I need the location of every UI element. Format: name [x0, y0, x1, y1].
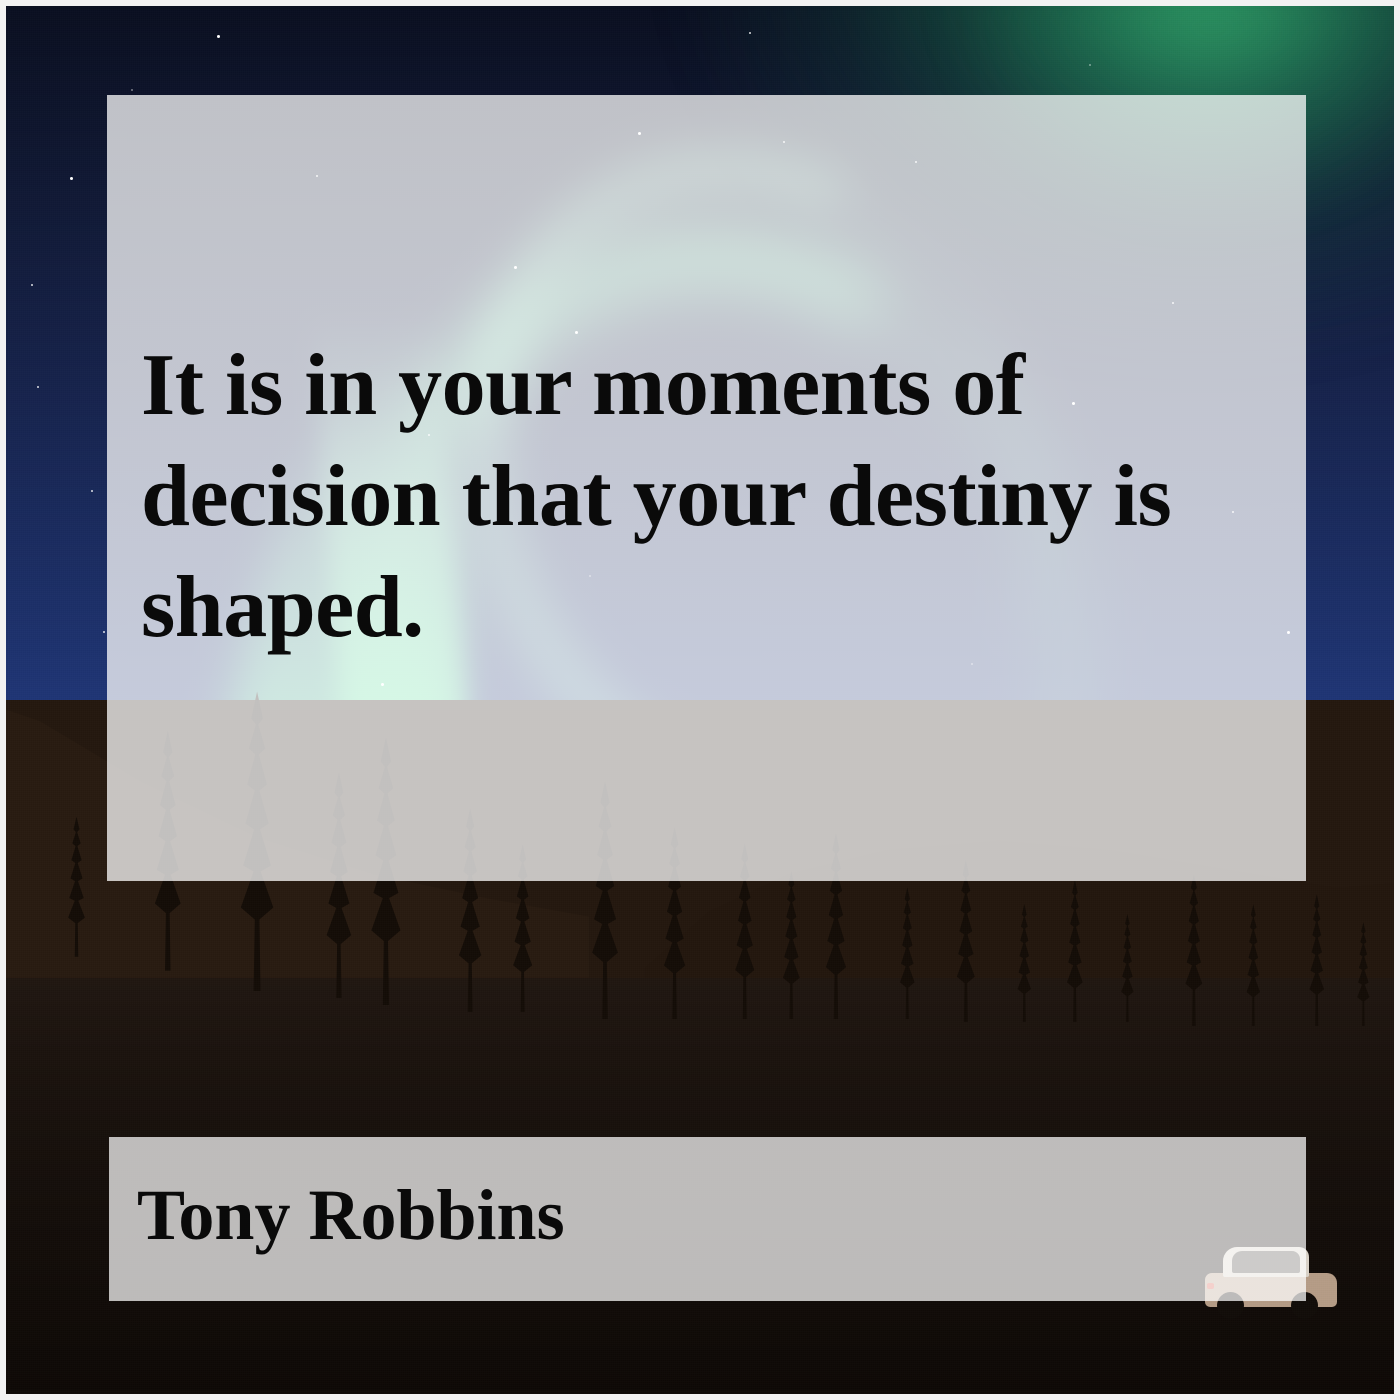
quote-card: It is in your moments of decision that y… [0, 0, 1400, 1400]
quote-text: It is in your moments of decision that y… [141, 331, 1261, 664]
quote-panel: It is in your moments of decision that y… [107, 95, 1306, 881]
author-panel: Tony Robbins [109, 1137, 1306, 1301]
author-name: Tony Robbins [137, 1179, 565, 1251]
